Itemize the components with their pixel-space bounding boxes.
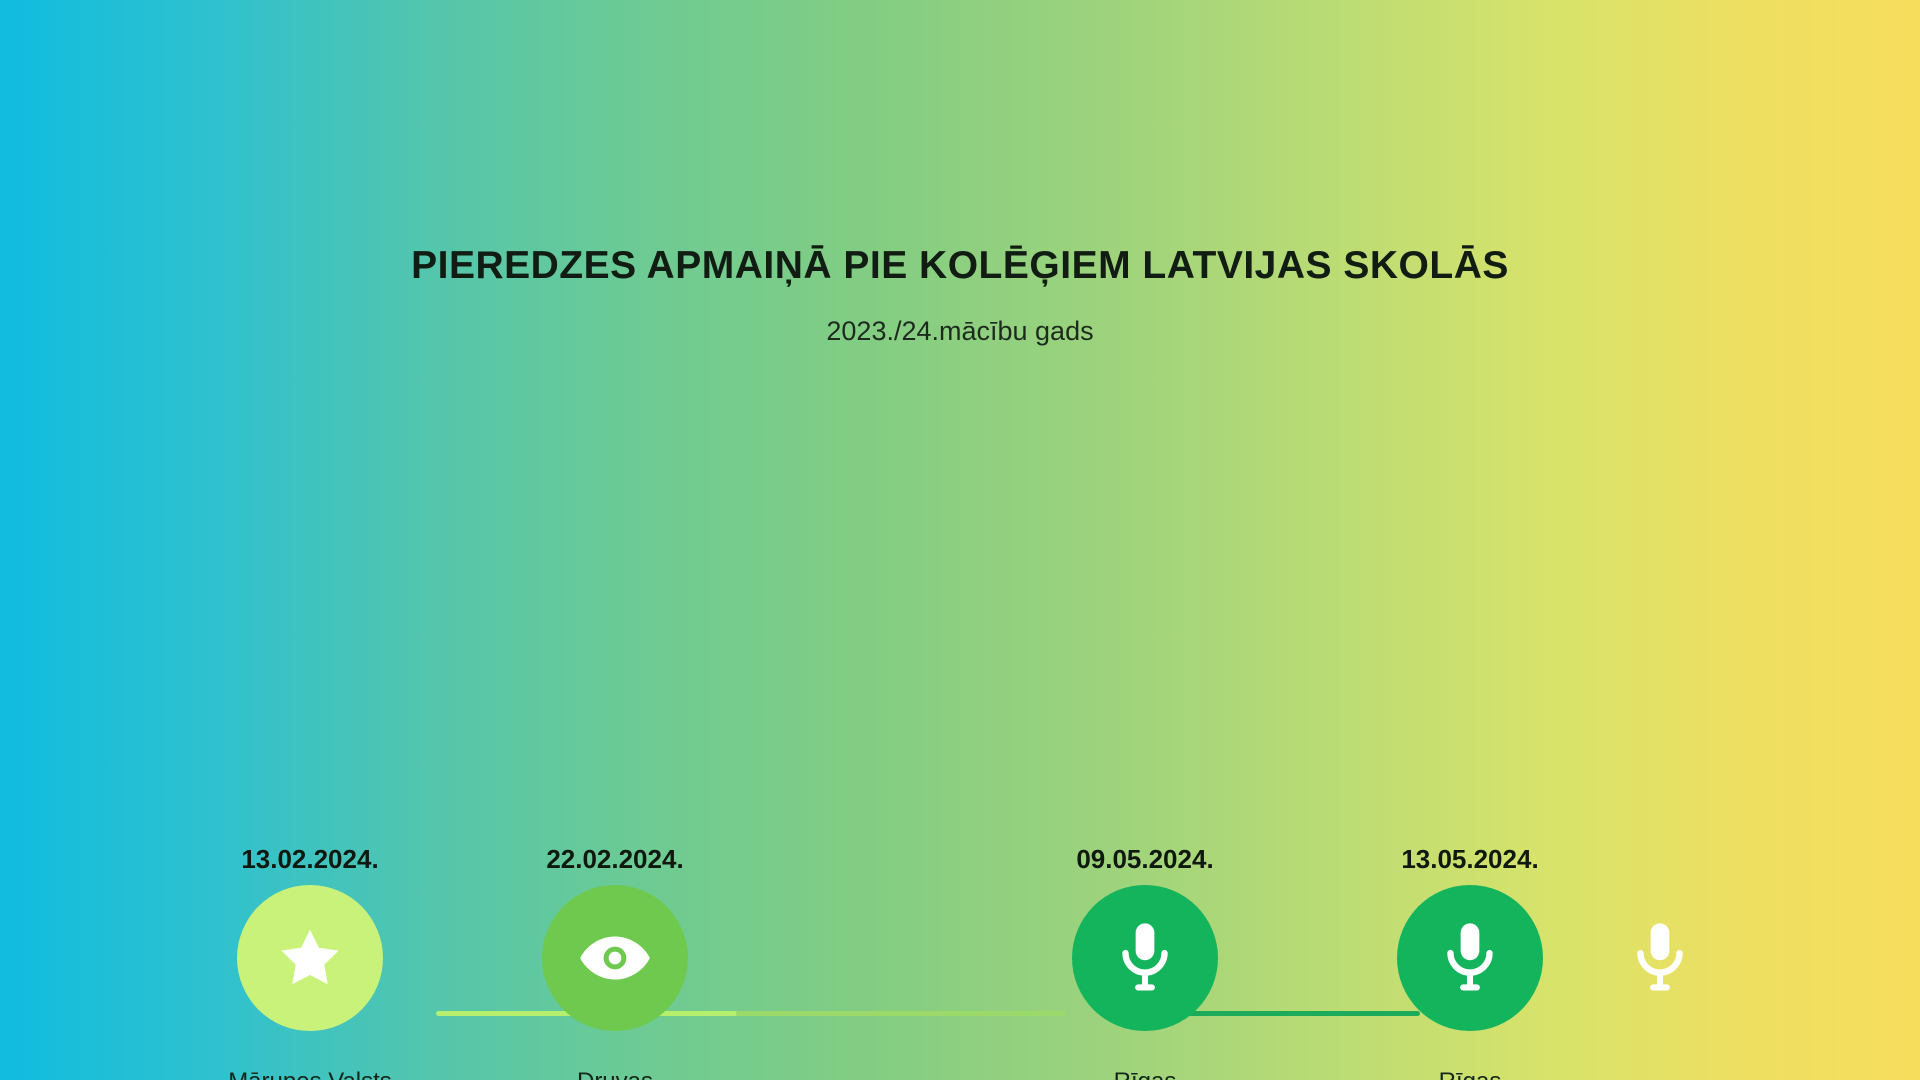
timeline-caption: Druvas vidusskolā — [495, 1064, 735, 1080]
timeline-marker — [190, 878, 430, 1038]
page-title: PIEREDZES APMAIŅĀ PIE KOLĒĢIEM LATVIJAS … — [0, 244, 1920, 288]
microphone-icon — [1112, 918, 1178, 998]
timeline-date — [1540, 840, 1780, 878]
timeline-caption: Rīgas 88.vidusskolā — [1350, 1064, 1590, 1080]
timeline-icon-circle[interactable] — [1397, 885, 1543, 1031]
timeline: 13.02.2024.Mārupes Valsts ģimnāzijā(sāku… — [0, 420, 1920, 900]
page-subtitle: 2023./24.mācību gads — [0, 316, 1920, 347]
star-icon — [274, 922, 346, 994]
timeline-node[interactable]: 13.02.2024.Mārupes Valsts ģimnāzijā(sāku… — [190, 840, 430, 1080]
timeline-icon-circle[interactable] — [1072, 885, 1218, 1031]
microphone-icon — [1437, 918, 1503, 998]
infographic-canvas: PIEREDZES APMAIŅĀ PIE KOLĒĢIEM LATVIJAS … — [0, 0, 1920, 1080]
timeline-caption: Rīgas 74.pamatskolā — [1025, 1064, 1265, 1080]
timeline-node[interactable]: 09.05.2024.Rīgas 74.pamatskolā — [1025, 840, 1265, 1080]
timeline-caption: Mārupes Valsts ģimnāzijā — [190, 1064, 430, 1080]
timeline-icon-circle[interactable] — [237, 885, 383, 1031]
timeline-marker — [495, 878, 735, 1038]
microphone-icon — [1627, 918, 1693, 998]
timeline-icon-circle[interactable] — [542, 885, 688, 1031]
timeline-connector-2 — [736, 1011, 1066, 1016]
eye-icon — [577, 920, 653, 996]
timeline-marker — [1025, 878, 1265, 1038]
timeline-date: 22.02.2024. — [495, 840, 735, 878]
timeline-node[interactable] — [1540, 840, 1780, 1064]
timeline-date: 09.05.2024. — [1025, 840, 1265, 878]
timeline-marker — [1540, 878, 1780, 1038]
timeline-date: 13.02.2024. — [190, 840, 430, 878]
timeline-node[interactable]: 22.02.2024.Druvas vidusskolā — [495, 840, 735, 1080]
timeline-icon-circle[interactable] — [1627, 918, 1693, 998]
